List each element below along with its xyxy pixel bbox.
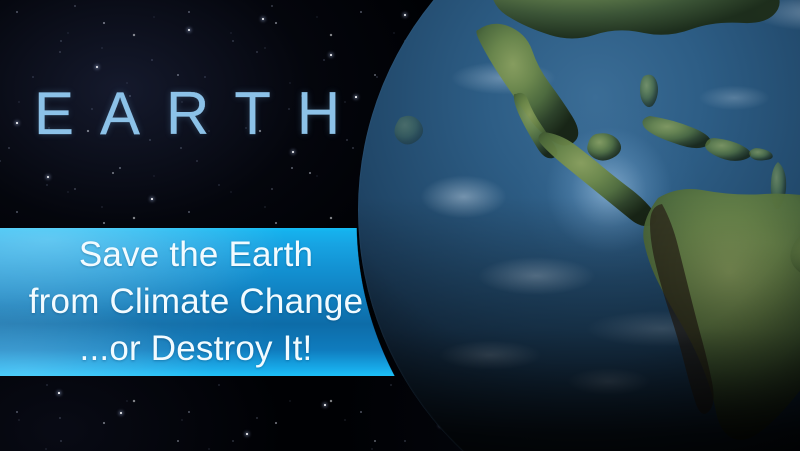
banner-line-2: from Climate Change [29,279,364,325]
banner-text-block: Save the Earth from Climate Change ...or… [0,228,392,376]
bright-star [246,433,248,435]
bright-star [120,412,122,414]
banner-line-3: ...or Destroy It! [80,326,313,372]
earth-poster: EARTH Save the Earth from Climate Change… [0,0,800,451]
page-title: EARTH [34,84,366,144]
bright-star [47,176,49,178]
bright-star [96,66,98,68]
bright-star [16,122,18,124]
banner-line-1: Save the Earth [79,232,313,278]
message-banner: Save the Earth from Climate Change ...or… [0,228,800,376]
bright-star [151,198,153,200]
bright-star [720,430,722,432]
starfield-layer-far [0,0,800,451]
bright-star [330,54,332,56]
bright-star [440,424,442,426]
bright-star [188,29,190,31]
bright-star [292,151,294,153]
bright-star [404,14,406,16]
bright-star [760,22,762,24]
bright-star [324,404,326,406]
bright-star [58,392,60,394]
